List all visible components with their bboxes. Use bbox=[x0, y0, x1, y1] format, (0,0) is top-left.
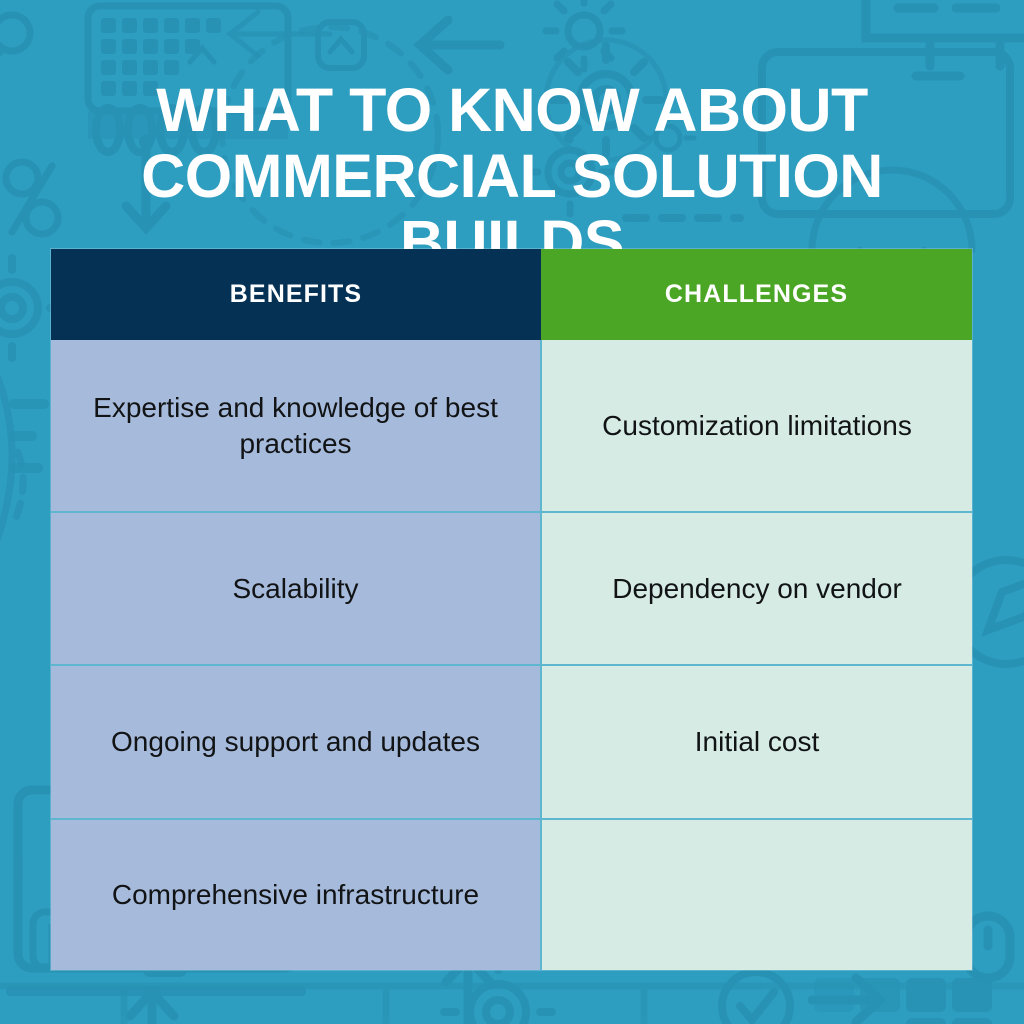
cell-challenges: Customization limitations bbox=[541, 340, 972, 512]
cell-challenges: Dependency on vendor bbox=[541, 512, 972, 665]
cell-benefits: Expertise and knowledge of best practice… bbox=[51, 340, 541, 512]
page-title: WHAT TO KNOW ABOUT COMMERCIAL SOLUTION B… bbox=[52, 78, 972, 276]
table-row: Scalability Dependency on vendor bbox=[51, 512, 972, 665]
cell-benefits: Ongoing support and updates bbox=[51, 665, 541, 819]
cell-challenges-empty bbox=[541, 819, 972, 970]
table-row: Ongoing support and updates Initial cost bbox=[51, 665, 972, 819]
poster-container: WHAT TO KNOW ABOUT COMMERCIAL SOLUTION B… bbox=[0, 0, 1024, 1024]
cell-challenges: Initial cost bbox=[541, 665, 972, 819]
table-row: Expertise and knowledge of best practice… bbox=[51, 340, 972, 512]
cell-benefits: Scalability bbox=[51, 512, 541, 665]
column-header-challenges: CHALLENGES bbox=[541, 249, 972, 340]
table-header: BENEFITS CHALLENGES bbox=[51, 249, 972, 340]
benefits-challenges-table: BENEFITS CHALLENGES Expertise and knowle… bbox=[51, 249, 972, 970]
table-row: Comprehensive infrastructure bbox=[51, 819, 972, 970]
cell-benefits: Comprehensive infrastructure bbox=[51, 819, 541, 970]
table-body: Expertise and knowledge of best practice… bbox=[51, 340, 972, 970]
column-header-benefits: BENEFITS bbox=[51, 249, 541, 340]
table-header-row: BENEFITS CHALLENGES bbox=[51, 249, 972, 340]
